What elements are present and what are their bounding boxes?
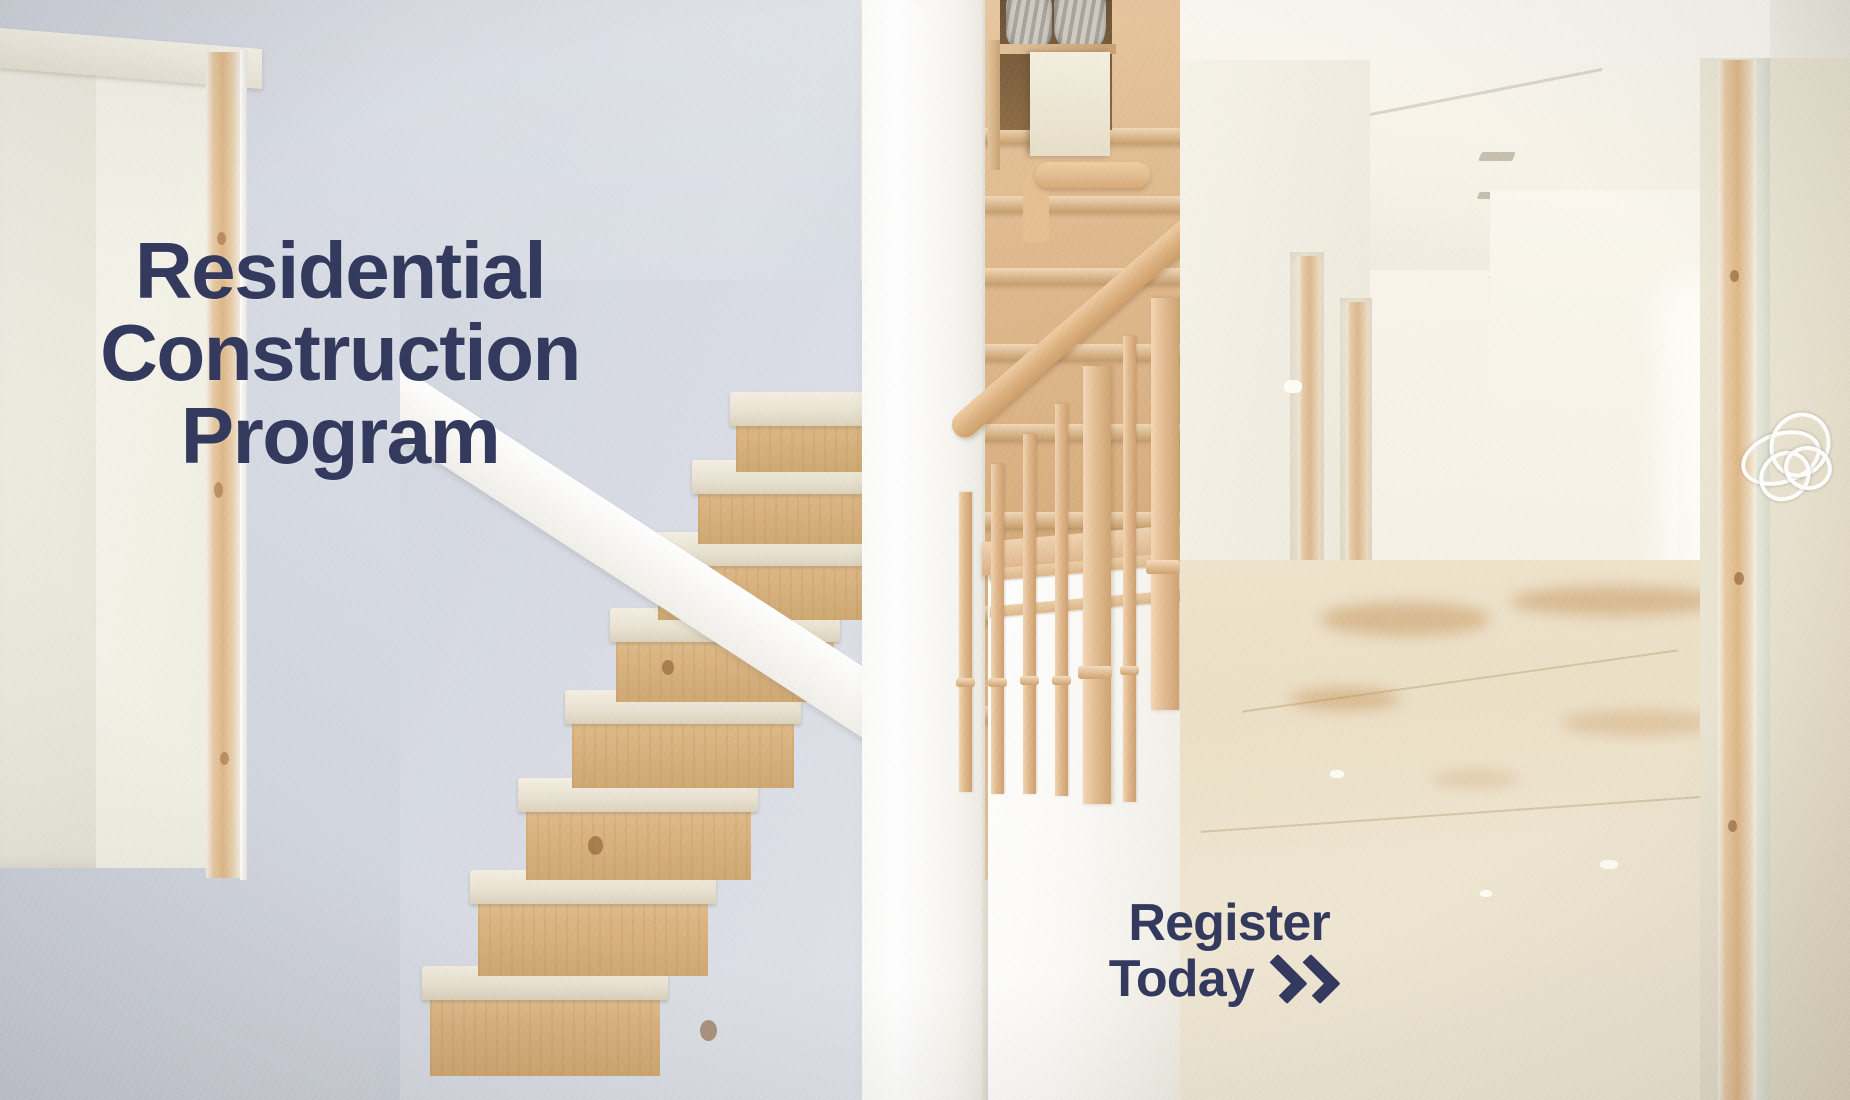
newel-bead — [1078, 666, 1112, 679]
promo-banner: Residential Construction Program Registe… — [0, 0, 1850, 1100]
floor-stain — [1510, 586, 1720, 616]
double-chevron-right-icon — [1268, 958, 1330, 1000]
baluster — [1023, 434, 1036, 794]
wood-knot — [588, 836, 603, 855]
wood-knot — [1728, 820, 1737, 832]
headline-line-1: Residential — [40, 230, 640, 312]
baluster — [959, 492, 972, 792]
cta-line-1: Register — [1000, 895, 1330, 951]
floor-debris — [1480, 890, 1492, 897]
floor-debris — [1330, 770, 1344, 778]
baluster — [991, 464, 1004, 794]
cta-line-2: Today — [1109, 951, 1254, 1007]
drywall-patch — [1284, 380, 1302, 393]
newel-post-mid — [1083, 366, 1111, 804]
baluster-bead — [956, 678, 975, 687]
newel-post-main — [1151, 298, 1179, 710]
wood-knot — [1734, 572, 1744, 585]
handrail-horizontal — [1035, 162, 1150, 188]
wood-knot — [220, 752, 229, 765]
floor-stain — [1290, 688, 1400, 710]
construction-interior-photo — [0, 0, 1850, 1100]
baluster — [1055, 404, 1068, 796]
page-title: Residential Construction Program — [40, 230, 640, 477]
balustrade — [965, 120, 1215, 920]
baluster-bead — [988, 678, 1007, 687]
headline-line-2: Construction — [40, 312, 640, 394]
stair-tread — [730, 392, 880, 426]
headline-line-3: Program — [40, 395, 640, 477]
cta-line-2-row: Today — [1000, 951, 1330, 1007]
floor-debris — [1600, 860, 1618, 869]
floor-stain — [1320, 602, 1490, 636]
recessed-light-cutout — [1478, 152, 1516, 161]
wood-knot — [662, 660, 674, 675]
register-today-link[interactable]: Register Today — [1000, 895, 1330, 1007]
wood-knot — [700, 1020, 717, 1041]
newel-bead — [1146, 560, 1180, 574]
right-door-jamb-edge — [1756, 58, 1770, 1100]
baluster-bead — [1052, 676, 1071, 685]
floor-stain — [1430, 770, 1520, 788]
wood-knot — [214, 482, 223, 498]
wood-knot — [1730, 270, 1739, 282]
floor-stain — [1560, 710, 1720, 736]
right-door-jamb-stud — [1718, 60, 1756, 1100]
baluster-bead — [1120, 666, 1139, 675]
baluster-bead — [1020, 676, 1039, 685]
baluster — [1123, 336, 1136, 802]
